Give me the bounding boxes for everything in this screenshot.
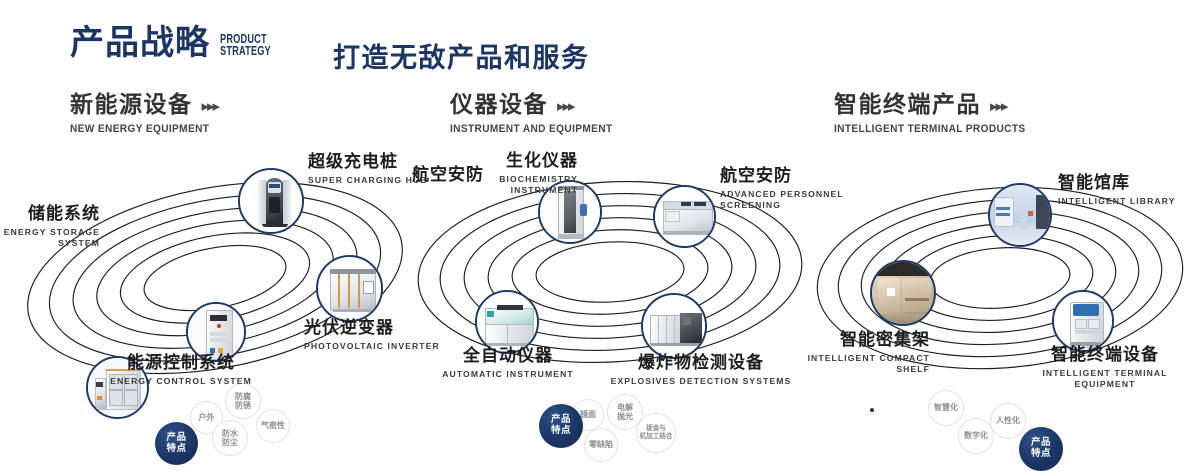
node-label-energy-control-system: 能源控制系统 ENERGY CONTROL SYSTEM xyxy=(76,355,286,387)
feature-bubble: 防腐 防锈 xyxy=(225,383,261,419)
page-subtitle: 打造无敌产品和服务 xyxy=(333,36,590,75)
node-label-cn: 全自动仪器 xyxy=(420,348,596,366)
node-label-intelligent-compact-shelf: 智能密集架 INTELLIGENT COMPACT SHELF xyxy=(758,332,930,374)
node-label-cn: 智能终端设备 xyxy=(1012,347,1198,365)
chevron-right-icon: ▸▸▸ xyxy=(202,97,219,115)
section-title-en: INTELLIGENT TERMINAL PRODUCTS xyxy=(834,123,1026,135)
node-label-cn: 航空安防 xyxy=(412,167,502,185)
chevron-right-icon: ▸▸▸ xyxy=(557,97,574,115)
core-badge-product-features: 产品 特点 xyxy=(155,422,198,465)
core-badge-line1: 产品 xyxy=(166,433,186,444)
node-label-en: EXPLOSIVES DETECTION SYSTEMS xyxy=(586,376,816,387)
section-heading-instrument: 仪器设备 ▸▸▸ INSTRUMENT AND EQUIPMENT xyxy=(450,94,627,135)
node-label-cn: 智能馆库 xyxy=(1058,175,1198,193)
core-badge-line1: 产品 xyxy=(1031,438,1051,449)
node-label-en: INTELLIGENT COMPACT SHELF xyxy=(758,353,930,374)
feature-bubble: 钣金与 机加工结合 xyxy=(636,413,676,453)
section-title-en: INSTRUMENT AND EQUIPMENT xyxy=(450,123,613,135)
node-explosives-detection-systems[interactable] xyxy=(641,293,707,359)
node-super-charging-hub[interactable] xyxy=(238,168,304,234)
chevron-right-icon: ▸▸▸ xyxy=(990,97,1007,115)
feature-bubble: 人性化 xyxy=(990,403,1026,439)
node-label-automatic-instrument: 全自动仪器 AUTOMATIC INSTRUMENT xyxy=(420,348,596,380)
node-label-en: ENERGY CONTROL SYSTEM xyxy=(76,376,286,387)
node-automatic-instrument[interactable] xyxy=(475,290,539,354)
node-label-cn: 储能系统 xyxy=(0,206,100,224)
feature-bubble: 防水 防尘 xyxy=(212,420,248,456)
node-label-intelligent-terminal-equipment: 智能终端设备 INTELLIGENT TERMINAL EQUIPMENT xyxy=(1012,347,1198,389)
node-intelligent-library[interactable] xyxy=(988,183,1052,247)
core-badge-line1: 产品 xyxy=(551,415,571,426)
section-title-cn: 新能源设备 xyxy=(70,94,193,117)
section-heading-new-energy: 新能源设备 ▸▸▸ NEW ENERGY EQUIPMENT xyxy=(70,94,221,135)
page-title-en: PRODUCT STRATEGY xyxy=(220,33,271,59)
poster-root: 产品战略 PRODUCT STRATEGY 打造无敌产品和服务 新能源设备 ▸▸… xyxy=(0,0,1200,422)
core-badge-line2: 特点 xyxy=(551,426,571,437)
section-title-en: NEW ENERGY EQUIPMENT xyxy=(70,123,209,135)
feature-bubble: 零缺陷 xyxy=(584,428,618,462)
node-intelligent-compact-shelf[interactable] xyxy=(870,260,936,326)
node-label-aviation-security-left: 航空安防 xyxy=(412,167,502,185)
node-label-en: INTELLIGENT TERMINAL EQUIPMENT xyxy=(1012,368,1198,389)
node-label-cn: 能源控制系统 xyxy=(76,355,286,373)
section-heading-intelligent-terminal: 智能终端产品 ▸▸▸ INTELLIGENT TERMINAL PRODUCTS xyxy=(834,94,1042,135)
node-photovoltaic-inverter[interactable] xyxy=(316,255,383,322)
node-label-en: AUTOMATIC INSTRUMENT xyxy=(420,369,596,380)
page-title-block: 产品战略 PRODUCT STRATEGY xyxy=(70,26,289,60)
core-badge-line2: 特点 xyxy=(166,444,186,455)
node-label-intelligent-library: 智能馆库 INTELLIGENT LIBRARY xyxy=(1058,175,1198,207)
cluster-new-energy: 户外 防腐 防锈 防水 防尘 气密性 产品 特点 储能系统 ENERGY STO… xyxy=(0,150,420,390)
node-label-en: ENERGY STORAGE SYSTEM xyxy=(0,227,100,248)
feature-bubble: 气密性 xyxy=(256,409,290,443)
section-title-cn: 仪器设备 xyxy=(450,94,548,117)
page-title-cn: 产品战略 xyxy=(70,26,210,60)
feature-bubble: 智慧化 xyxy=(928,390,964,426)
feature-bubble: 数字化 xyxy=(958,418,994,454)
node-label-cn: 智能密集架 xyxy=(758,332,930,350)
node-intelligent-terminal-equipment[interactable] xyxy=(1052,290,1114,352)
node-label-en: INTELLIGENT LIBRARY xyxy=(1058,196,1198,207)
node-label-energy-storage-system: 储能系统 ENERGY STORAGE SYSTEM xyxy=(0,206,100,248)
section-title-cn: 智能终端产品 xyxy=(834,94,981,117)
node-advanced-personnel-screening[interactable] xyxy=(653,185,716,248)
cluster-intelligent-terminal: 智慧化 数字化 人性化 产品 特点 智能馆库 INTELLIGENT LIBRA… xyxy=(800,150,1200,400)
core-badge-product-features: 产品 特点 xyxy=(1019,427,1063,471)
core-badge-product-features: 产品 特点 xyxy=(539,404,583,448)
cluster-instrument: 镜面 电解 抛光 零缺陷 钣金与 机加工结合 产品 特点 生化仪器 BIOCHE… xyxy=(400,150,820,395)
core-badge-line2: 特点 xyxy=(1031,449,1051,460)
